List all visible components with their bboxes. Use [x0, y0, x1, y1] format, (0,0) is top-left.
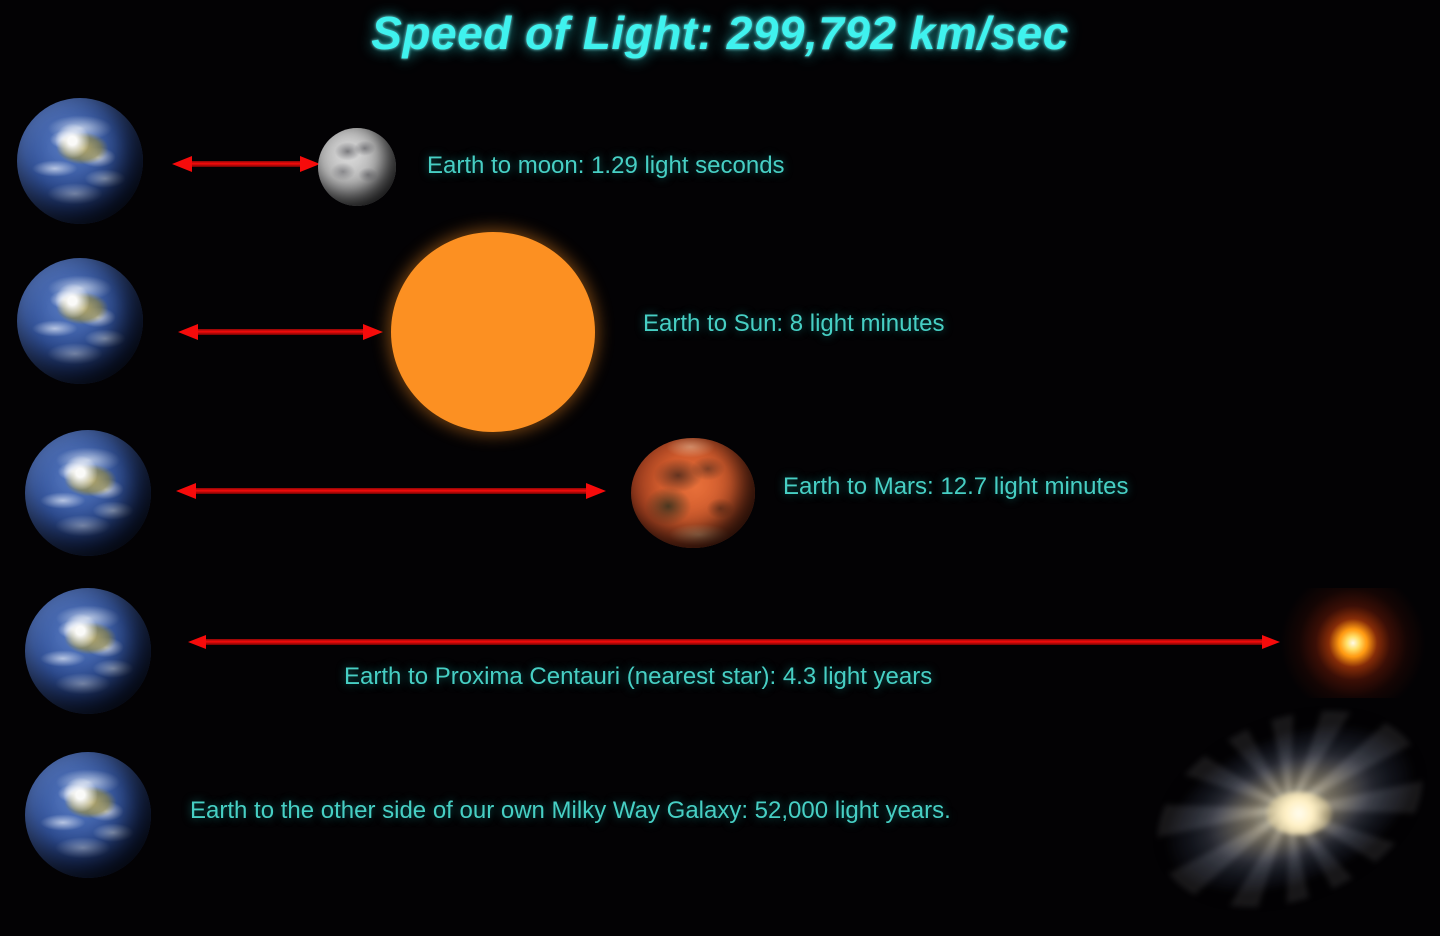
speed-of-light-diagram: Speed of Light: 299,792 km/sec Earth to … [0, 0, 1440, 936]
mars-icon [631, 438, 755, 548]
galaxy-icon [1140, 702, 1440, 916]
caption-earth-milkyway: Earth to the other side of our own Milky… [190, 797, 951, 825]
earth-icon [17, 258, 143, 384]
caption-earth-moon: Earth to moon: 1.29 light seconds [427, 152, 785, 180]
earth-icon [25, 430, 151, 556]
star-icon [1278, 588, 1428, 698]
page-title: Speed of Light: 299,792 km/sec [0, 6, 1440, 60]
double-headed-arrow-icon [172, 153, 320, 175]
caption-earth-proxima: Earth to Proxima Centauri (nearest star)… [344, 663, 932, 691]
caption-earth-sun: Earth to Sun: 8 light minutes [643, 310, 945, 338]
earth-icon [17, 98, 143, 224]
moon-icon [318, 128, 396, 206]
earth-icon [25, 588, 151, 714]
double-headed-arrow-icon [178, 321, 383, 343]
sun-icon [391, 232, 595, 432]
earth-icon [25, 752, 151, 878]
double-headed-arrow-icon [176, 480, 606, 502]
caption-earth-mars: Earth to Mars: 12.7 light minutes [783, 473, 1129, 501]
galaxy-core [1266, 792, 1332, 835]
double-headed-arrow-icon [188, 631, 1280, 653]
